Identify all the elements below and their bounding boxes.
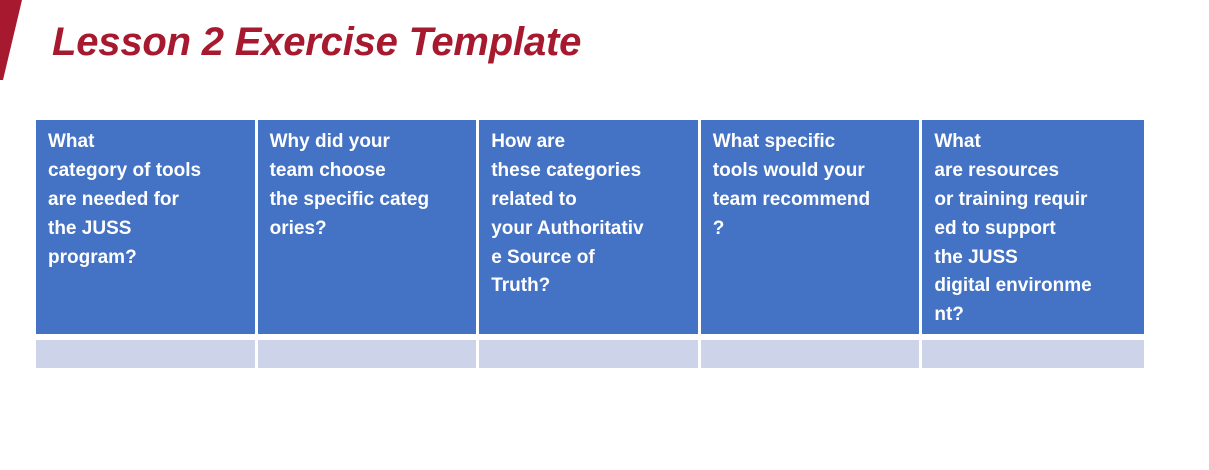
table-answer-td-1 <box>36 334 258 368</box>
answer-cell-resources-or-training[interactable] <box>922 334 1144 368</box>
question-header-related-to-authoritative-source: How are these categories related to your… <box>479 120 701 334</box>
answer-cell-category-of-tools[interactable] <box>36 334 258 368</box>
table-header-cell-4: What specific tools would your team reco… <box>701 120 923 334</box>
table-header-cell-5: What are resources or training requir ed… <box>922 120 1144 334</box>
answer-cell-related-to-authoritative-source[interactable] <box>479 334 701 368</box>
table-answer-td-3 <box>479 334 701 368</box>
table-header-cell-3: How are these categories related to your… <box>479 120 701 334</box>
table-header-row: What category of tools are needed for th… <box>36 120 1144 334</box>
answer-cell-specific-tools-recommend[interactable] <box>701 334 923 368</box>
exercise-template-table: What category of tools are needed for th… <box>36 120 1144 368</box>
table-answer-td-4 <box>701 334 923 368</box>
table-header-cell-2: Why did your team choose the specific ca… <box>258 120 480 334</box>
table-answer-td-2 <box>258 334 480 368</box>
question-header-category-of-tools: What category of tools are needed for th… <box>36 120 258 334</box>
answer-cell-why-specific-categories[interactable] <box>258 334 480 368</box>
table-header-cell-1: What category of tools are needed for th… <box>36 120 258 334</box>
page-title: Lesson 2 Exercise Template <box>52 19 581 65</box>
table-answer-row <box>36 334 1144 368</box>
question-header-resources-or-training: What are resources or training requir ed… <box>922 120 1144 334</box>
slide-canvas: Lesson 2 Exercise Template What category… <box>0 0 1209 470</box>
table-answer-td-5 <box>922 334 1144 368</box>
red-corner-accent-icon <box>0 0 26 80</box>
question-header-specific-tools-recommend: What specific tools would your team reco… <box>701 120 923 334</box>
question-header-why-specific-categories: Why did your team choose the specific ca… <box>258 120 480 334</box>
